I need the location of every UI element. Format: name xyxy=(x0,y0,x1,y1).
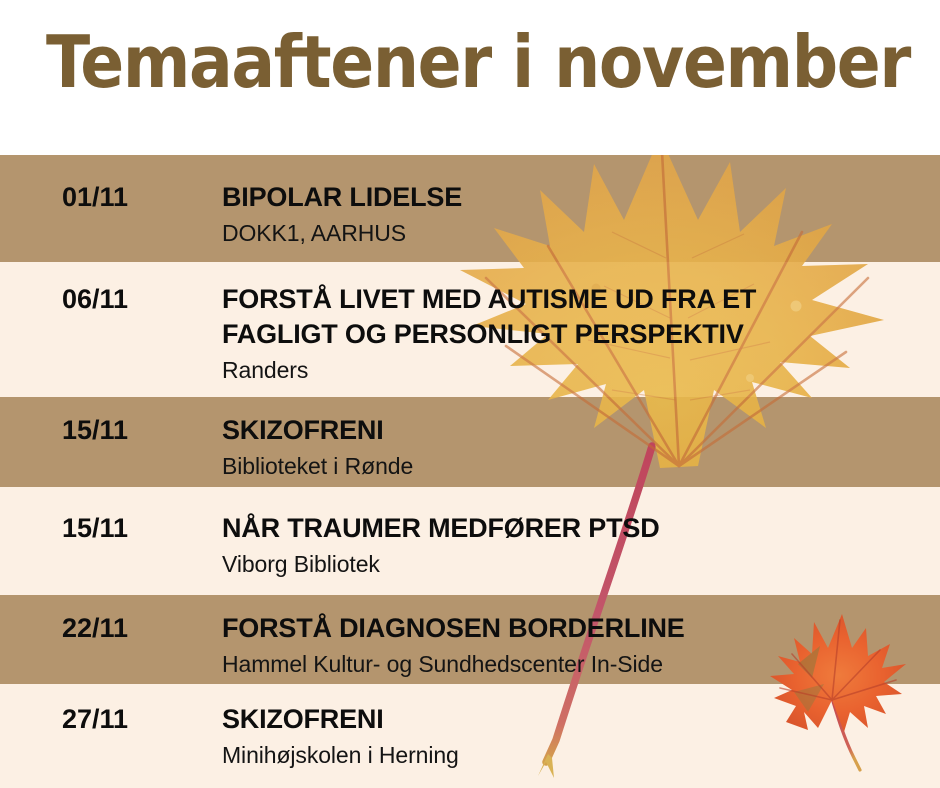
event-title: SKIZOFRENI xyxy=(222,413,930,448)
event-details: FORSTÅ LIVET MED AUTISME UD FRA ET FAGLI… xyxy=(222,282,820,386)
event-venue: Randers xyxy=(222,355,820,385)
event-details: FORSTÅ DIAGNOSEN BORDERLINE Hammel Kultu… xyxy=(222,611,930,679)
event-details: BIPOLAR LIDELSE DOKK1, AARHUS xyxy=(222,180,930,248)
event-venue: DOKK1, AARHUS xyxy=(222,218,930,248)
event-row-5[interactable]: 22/11 FORSTÅ DIAGNOSEN BORDERLINE Hammel… xyxy=(0,595,940,684)
event-title: SKIZOFRENI xyxy=(222,702,930,737)
event-venue: Viborg Bibliotek xyxy=(222,549,930,579)
event-title: NÅR TRAUMER MEDFØRER PTSD xyxy=(222,511,930,546)
event-date: 01/11 xyxy=(62,182,128,213)
event-date: 22/11 xyxy=(62,613,128,644)
poster-canvas: Temaaftener i november 01/11 BIPOLAR LID… xyxy=(0,0,940,788)
event-title: BIPOLAR LIDELSE xyxy=(222,180,930,215)
event-row-3[interactable]: 15/11 SKIZOFRENI Biblioteket i Rønde xyxy=(0,397,940,487)
event-row-6[interactable]: 27/11 SKIZOFRENI Minihøjskolen i Herning xyxy=(0,684,940,788)
page-title: Temaaftener i november xyxy=(46,22,910,103)
event-details: SKIZOFRENI Minihøjskolen i Herning xyxy=(222,702,930,770)
event-row-1[interactable]: 01/11 BIPOLAR LIDELSE DOKK1, AARHUS xyxy=(0,155,940,262)
event-date: 06/11 xyxy=(62,284,128,315)
event-row-4[interactable]: 15/11 NÅR TRAUMER MEDFØRER PTSD Viborg B… xyxy=(0,487,940,595)
event-date: 15/11 xyxy=(62,513,128,544)
event-details: NÅR TRAUMER MEDFØRER PTSD Viborg Bibliot… xyxy=(222,511,930,579)
event-venue: Biblioteket i Rønde xyxy=(222,451,930,481)
event-title: FORSTÅ LIVET MED AUTISME UD FRA ET FAGLI… xyxy=(222,282,820,352)
event-venue: Minihøjskolen i Herning xyxy=(222,740,930,770)
event-row-2[interactable]: 06/11 FORSTÅ LIVET MED AUTISME UD FRA ET… xyxy=(0,262,940,397)
event-details: SKIZOFRENI Biblioteket i Rønde xyxy=(222,413,930,481)
event-date: 15/11 xyxy=(62,415,128,446)
event-venue: Hammel Kultur- og Sundhedscenter In-Side xyxy=(222,649,930,679)
poster-header: Temaaftener i november xyxy=(0,0,940,155)
event-title: FORSTÅ DIAGNOSEN BORDERLINE xyxy=(222,611,930,646)
event-date: 27/11 xyxy=(62,704,128,735)
